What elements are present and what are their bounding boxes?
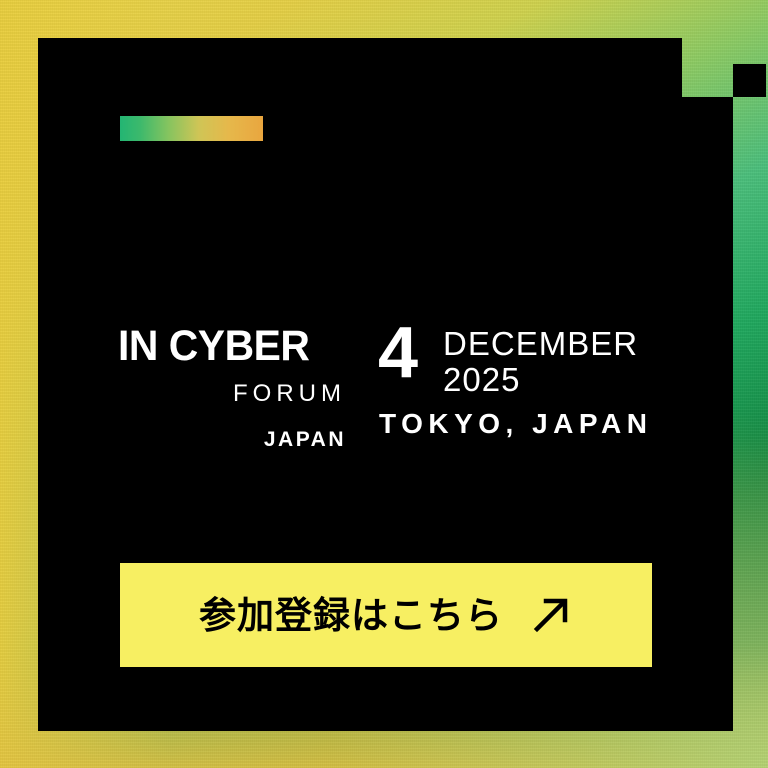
event-date-block: 4 DECEMBER 2025 — [378, 322, 638, 397]
poster-canvas: IN CYBER FORUM JAPAN 4 DECEMBER 2025 TOK… — [0, 0, 768, 768]
brand-name: IN CYBER — [118, 325, 337, 368]
brand-subtitle: FORUM — [118, 382, 348, 406]
event-month: DECEMBER — [443, 326, 638, 362]
event-month-year: DECEMBER 2025 — [443, 326, 638, 397]
event-location: TOKYO, JAPAN — [379, 408, 652, 440]
poster-content: IN CYBER FORUM JAPAN 4 DECEMBER 2025 TOK… — [0, 0, 768, 768]
event-year: 2025 — [443, 362, 638, 398]
brand-lockup: IN CYBER FORUM JAPAN — [118, 325, 348, 450]
register-button[interactable]: 参加登録はこちら — [120, 563, 652, 667]
brand-country: JAPAN — [118, 429, 348, 450]
register-button-label: 参加登録はこちら — [199, 597, 503, 634]
arrow-up-right-icon — [529, 593, 573, 637]
event-day: 4 — [378, 322, 416, 385]
